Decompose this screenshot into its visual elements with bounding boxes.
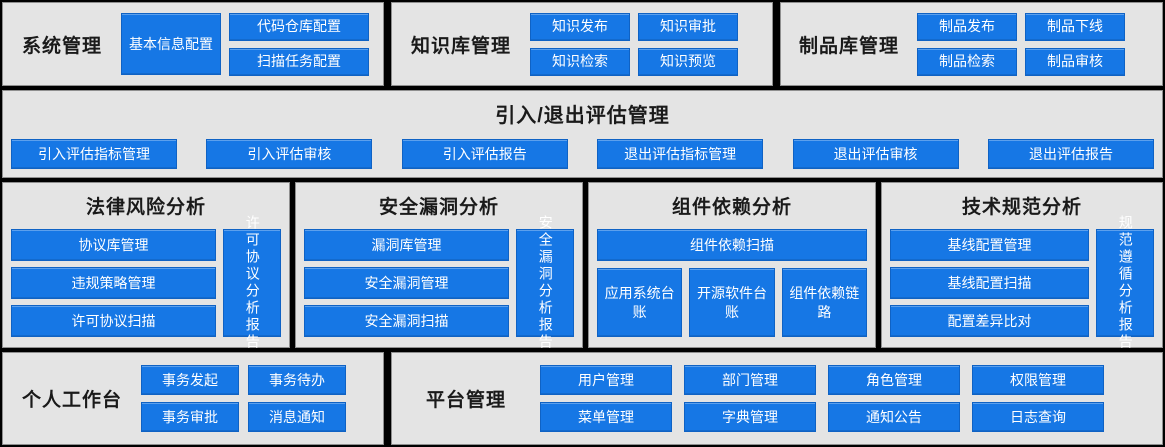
panel-system-management: 系统管理 基本信息配置 代码仓库配置 扫描任务配置 [2,2,384,86]
panel-evaluation-management: 引入/退出评估管理 引入评估指标管理 引入评估审核 引入评估报告 退出评估指标管… [2,90,1163,178]
techspec-button-stack: 基线配置管理 基线配置扫描 配置差异比对 [890,229,1089,337]
button-intro-eval-indicator-management[interactable]: 引入评估指标管理 [11,139,177,169]
button-violation-policy-management[interactable]: 违规策略管理 [11,267,216,299]
panel-title-personal-workbench: 个人工作台 [3,385,141,412]
button-task-todo[interactable]: 事务待办 [248,365,346,395]
button-vulnerability-library-management[interactable]: 漏洞库管理 [304,229,509,261]
button-artifact-offline[interactable]: 制品下线 [1025,13,1125,41]
artifact-column-right: 制品下线 制品审核 [1025,13,1125,76]
platform-column-4: 权限管理 日志查询 [972,365,1104,432]
button-security-vulnerability-analysis-report[interactable]: 安全漏洞分析报告 [516,229,574,337]
button-knowledge-preview[interactable]: 知识预览 [638,48,738,76]
panel-title-artifact-repo-management: 制品库管理 [781,31,917,58]
button-user-management[interactable]: 用户管理 [540,365,672,395]
button-open-source-software-ledger[interactable]: 开源软件台账 [689,268,774,337]
platform-column-2: 部门管理 字典管理 [684,365,816,432]
system-management-buttons: 基本信息配置 代码仓库配置 扫描任务配置 [121,13,369,76]
button-component-dependency-chain[interactable]: 组件依赖链路 [782,268,867,337]
legal-risk-analysis-buttons: 协议库管理 违规策略管理 许可协议扫描 许可协议分析报告 [3,229,289,337]
evaluation-management-buttons: 引入评估指标管理 引入评估审核 引入评估报告 退出评估指标管理 退出评估审核 退… [3,139,1162,169]
platform-column-3: 角色管理 通知公告 [828,365,960,432]
system-function-map: 系统管理 基本信息配置 代码仓库配置 扫描任务配置 知识库管理 知识发布 知识检… [0,0,1165,447]
panel-title-knowledge-base-management: 知识库管理 [392,31,530,58]
button-intro-eval-audit[interactable]: 引入评估审核 [206,139,372,169]
button-application-system-ledger[interactable]: 应用系统台账 [597,268,682,337]
panel-personal-workbench: 个人工作台 事务发起 事务审批 事务待办 消息通知 [2,352,384,445]
button-license-agreement-analysis-report[interactable]: 许可协议分析报告 [223,229,281,337]
security-button-stack: 漏洞库管理 安全漏洞管理 安全漏洞扫描 [304,229,509,337]
system-management-button-column: 代码仓库配置 扫描任务配置 [229,13,369,76]
panel-security-vulnerability-analysis: 安全漏洞分析 漏洞库管理 安全漏洞管理 安全漏洞扫描 安全漏洞分析报告 [295,182,583,348]
knowledge-column-left: 知识发布 知识检索 [530,13,630,76]
button-code-repo-config[interactable]: 代码仓库配置 [229,13,369,41]
button-config-difference-comparison[interactable]: 配置差异比对 [890,305,1089,337]
platform-management-buttons: 用户管理 菜单管理 部门管理 字典管理 角色管理 通知公告 权限管理 日志查询 [540,365,1104,432]
button-basic-info-config[interactable]: 基本信息配置 [121,13,221,75]
button-department-management[interactable]: 部门管理 [684,365,816,395]
button-agreement-library-management[interactable]: 协议库管理 [11,229,216,261]
button-log-query[interactable]: 日志查询 [972,402,1104,432]
platform-column-1: 用户管理 菜单管理 [540,365,672,432]
button-task-approve[interactable]: 事务审批 [141,402,239,432]
button-permission-management[interactable]: 权限管理 [972,365,1104,395]
button-exit-eval-indicator-management[interactable]: 退出评估指标管理 [597,139,763,169]
button-license-agreement-scan[interactable]: 许可协议扫描 [11,305,216,337]
workbench-column-left: 事务发起 事务审批 [141,365,239,432]
button-baseline-config-scan[interactable]: 基线配置扫描 [890,267,1089,299]
panel-technical-specification-analysis: 技术规范分析 基线配置管理 基线配置扫描 配置差异比对 规范遵循分析报告 [881,182,1163,348]
button-dictionary-management[interactable]: 字典管理 [684,402,816,432]
button-exit-eval-report[interactable]: 退出评估报告 [988,139,1154,169]
button-knowledge-search[interactable]: 知识检索 [530,48,630,76]
artifact-column-left: 制品发布 制品检索 [917,13,1017,76]
panel-title-platform-management: 平台管理 [392,385,540,412]
panel-title-system-management: 系统管理 [3,31,121,58]
button-menu-management[interactable]: 菜单管理 [540,402,672,432]
technical-specification-buttons: 基线配置管理 基线配置扫描 配置差异比对 规范遵循分析报告 [882,229,1162,337]
button-security-vulnerability-management[interactable]: 安全漏洞管理 [304,267,509,299]
button-message-notification[interactable]: 消息通知 [248,402,346,432]
component-dependency-sub-buttons: 应用系统台账 开源软件台账 组件依赖链路 [597,268,867,337]
personal-workbench-buttons: 事务发起 事务审批 事务待办 消息通知 [141,365,346,432]
button-artifact-search[interactable]: 制品检索 [917,48,1017,76]
workbench-column-right: 事务待办 消息通知 [248,365,346,432]
button-exit-eval-audit[interactable]: 退出评估审核 [793,139,959,169]
button-role-management[interactable]: 角色管理 [828,365,960,395]
panel-title-evaluation-management: 引入/退出评估管理 [3,99,1162,128]
button-knowledge-publish[interactable]: 知识发布 [530,13,630,41]
panel-knowledge-base-management: 知识库管理 知识发布 知识检索 知识审批 知识预览 [391,2,773,86]
button-security-vulnerability-scan[interactable]: 安全漏洞扫描 [304,305,509,337]
button-specification-compliance-analysis-report[interactable]: 规范遵循分析报告 [1096,229,1154,337]
button-artifact-audit[interactable]: 制品审核 [1025,48,1125,76]
button-knowledge-approve[interactable]: 知识审批 [638,13,738,41]
panel-title-component-dependency-analysis: 组件依赖分析 [589,192,875,219]
button-announcement[interactable]: 通知公告 [828,402,960,432]
button-intro-eval-report[interactable]: 引入评估报告 [402,139,568,169]
knowledge-base-buttons: 知识发布 知识检索 知识审批 知识预览 [530,13,738,76]
component-dependency-buttons: 组件依赖扫描 应用系统台账 开源软件台账 组件依赖链路 [589,229,875,337]
knowledge-column-right: 知识审批 知识预览 [638,13,738,76]
legal-button-stack: 协议库管理 违规策略管理 许可协议扫描 [11,229,216,337]
button-task-initiate[interactable]: 事务发起 [141,365,239,395]
security-vulnerability-buttons: 漏洞库管理 安全漏洞管理 安全漏洞扫描 安全漏洞分析报告 [296,229,582,337]
button-scan-task-config[interactable]: 扫描任务配置 [229,48,369,76]
button-artifact-publish[interactable]: 制品发布 [917,13,1017,41]
button-baseline-config-management[interactable]: 基线配置管理 [890,229,1089,261]
artifact-repo-buttons: 制品发布 制品检索 制品下线 制品审核 [917,13,1125,76]
panel-artifact-repo-management: 制品库管理 制品发布 制品检索 制品下线 制品审核 [780,2,1163,86]
panel-platform-management: 平台管理 用户管理 菜单管理 部门管理 字典管理 角色管理 通知公告 权限管理 … [391,352,1163,445]
button-component-dependency-scan[interactable]: 组件依赖扫描 [597,229,867,261]
panel-component-dependency-analysis: 组件依赖分析 组件依赖扫描 应用系统台账 开源软件台账 组件依赖链路 [588,182,876,348]
panel-legal-risk-analysis: 法律风险分析 协议库管理 违规策略管理 许可协议扫描 许可协议分析报告 [2,182,290,348]
